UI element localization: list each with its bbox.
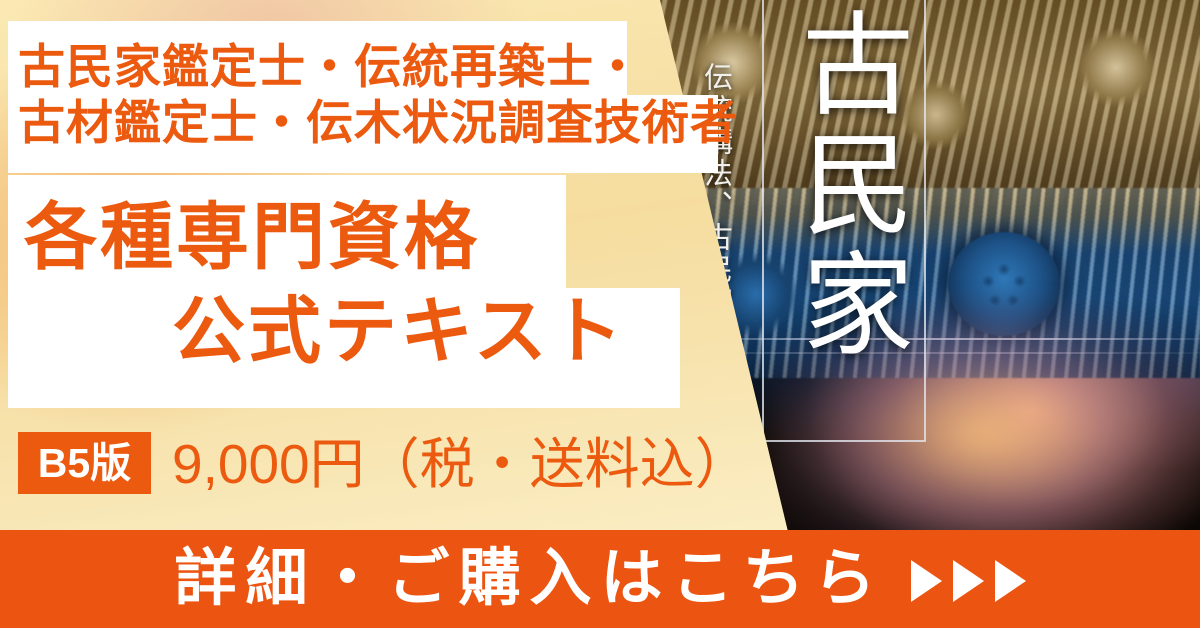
cta-label: 詳細・ご購入はこちら xyxy=(174,548,884,610)
triangle-right-icon xyxy=(995,560,1026,602)
price-text: 9,000円（税・送料込） xyxy=(172,434,750,494)
book-title-vertical: 古民家 xyxy=(772,6,912,366)
headline-line-1: 古民家鑑定士・伝統再築士・ xyxy=(18,43,642,90)
headline-line-2: 古材鑑定士・伝木状況調査技術者 xyxy=(18,99,738,146)
subhead-line-1: 各種専門資格 xyxy=(24,201,480,274)
cta-arrow-group xyxy=(911,560,1026,602)
format-badge: B5版 xyxy=(18,432,151,494)
triangle-right-icon xyxy=(953,560,984,602)
promo-banner: 古民家 伝統構法、古民家活用のための調査と再生の 古民家鑑定士・伝統再築士・ 古… xyxy=(0,0,1200,628)
triangle-right-icon xyxy=(911,560,942,602)
subhead-line-2: 公式テキスト xyxy=(172,295,626,368)
cta-bar[interactable]: 詳細・ご購入はこちら xyxy=(0,530,1200,628)
